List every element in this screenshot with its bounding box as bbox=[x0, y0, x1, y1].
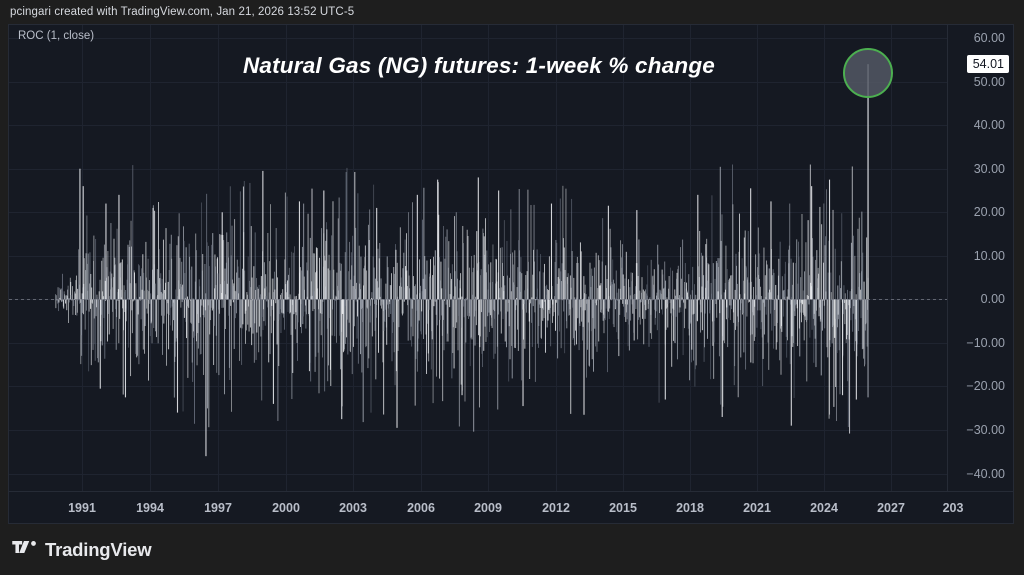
time-tick-label: 2009 bbox=[474, 501, 502, 515]
time-tick-label: 2015 bbox=[609, 501, 637, 515]
indicator-legend-label: ROC (1, close) bbox=[18, 30, 94, 42]
time-tick-label: 1997 bbox=[204, 501, 232, 515]
tradingview-chart-screenshot: pcingari created with TradingView.com, J… bbox=[0, 0, 1024, 575]
tradingview-logo[interactable]: TradingView bbox=[0, 539, 151, 561]
current-value-badge: 54.01 bbox=[967, 55, 1009, 73]
tradingview-logo-icon bbox=[12, 541, 38, 558]
price-tick-label: −40.00 bbox=[966, 467, 1005, 481]
time-tick-label: 1994 bbox=[136, 501, 164, 515]
price-tick-label: 0.00 bbox=[981, 292, 1005, 306]
time-scale[interactable]: 1991199419972000200320062009201220152018… bbox=[9, 491, 1013, 523]
chart-overlays bbox=[9, 25, 949, 491]
chart-title-text: Natural Gas (NG) futures: 1-week % chang… bbox=[243, 53, 715, 78]
time-tick-label: 2003 bbox=[339, 501, 367, 515]
price-tick-label: −30.00 bbox=[966, 423, 1005, 437]
price-tick-label: 20.00 bbox=[974, 205, 1005, 219]
time-tick-label: 1991 bbox=[68, 501, 96, 515]
time-tick-label: 2027 bbox=[877, 501, 905, 515]
attribution-bar: pcingari created with TradingView.com, J… bbox=[0, 0, 1024, 24]
time-tick-label: 203 bbox=[943, 501, 964, 515]
time-tick-label: 2012 bbox=[542, 501, 570, 515]
price-tick-label: −10.00 bbox=[966, 336, 1005, 350]
plot-area[interactable] bbox=[9, 25, 949, 491]
time-tick-label: 2018 bbox=[676, 501, 704, 515]
time-tick-label: 2024 bbox=[810, 501, 838, 515]
price-tick-label: 40.00 bbox=[974, 118, 1005, 132]
indicator-legend[interactable]: ROC (1, close) bbox=[18, 30, 94, 42]
time-tick-label: 2021 bbox=[743, 501, 771, 515]
price-tick-label: 30.00 bbox=[974, 162, 1005, 176]
tradingview-logo-wordmark: TradingView bbox=[45, 539, 151, 561]
footer: TradingView bbox=[0, 524, 1024, 575]
chart-panel: ROC (1, close) Natural Gas (NG) futures:… bbox=[8, 24, 1014, 524]
price-scale[interactable]: 60.0050.0040.0030.0020.0010.000.00−10.00… bbox=[947, 25, 1013, 491]
time-tick-label: 2006 bbox=[407, 501, 435, 515]
price-tick-label: 60.00 bbox=[974, 31, 1005, 45]
price-tick-label: −20.00 bbox=[966, 379, 1005, 393]
time-tick-label: 2000 bbox=[272, 501, 300, 515]
price-tick-label: 50.00 bbox=[974, 75, 1005, 89]
chart-title: Natural Gas (NG) futures: 1-week % chang… bbox=[9, 53, 949, 79]
attribution-text: pcingari created with TradingView.com, J… bbox=[0, 6, 354, 18]
price-tick-label: 10.00 bbox=[974, 249, 1005, 263]
